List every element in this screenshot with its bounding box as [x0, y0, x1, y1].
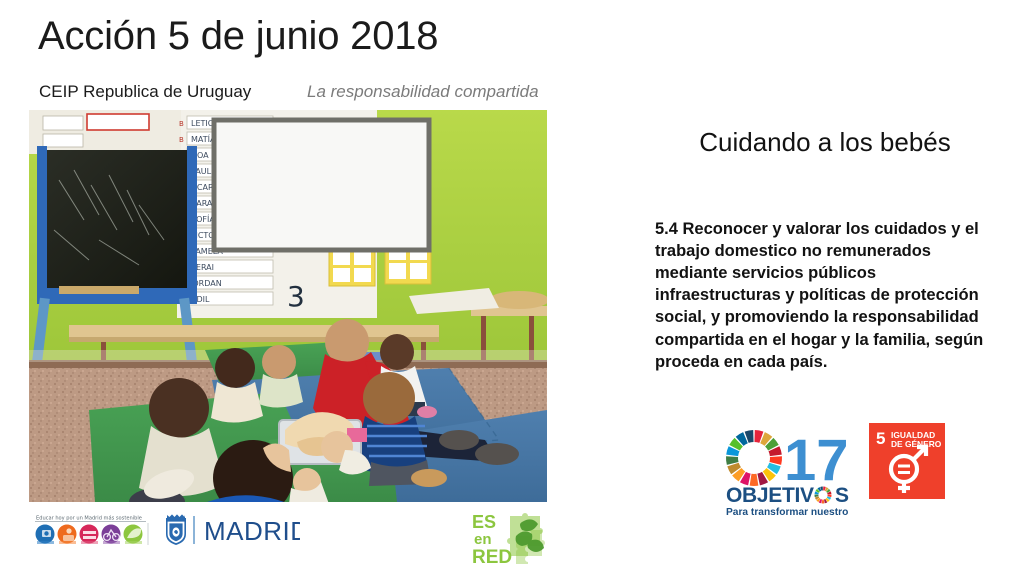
- sdg-17-tagline: Para transformar nuestro mundo: [726, 507, 850, 518]
- esenred-logo: ES en RED: [470, 506, 556, 568]
- theme-subtitle-label: La responsabilidad compartida: [307, 82, 539, 102]
- right-panel-body-text: 5.4 Reconocer y valorar los cuidados y e…: [655, 218, 995, 373]
- classroom-photo: LETICIAMATÍAS NOAPAULA RICARDOSARA SOFÍA…: [29, 110, 547, 502]
- svg-text:B: B: [179, 120, 184, 128]
- esenred-line1: ES: [472, 512, 496, 532]
- svg-text:B: B: [179, 136, 184, 144]
- esenred-logo-graphic: ES en RED: [470, 506, 556, 568]
- school-name-label: CEIP Republica de Uruguay: [39, 82, 251, 102]
- svg-text:3: 3: [287, 280, 305, 313]
- madrid-city-council-logo: MADRID: [160, 512, 300, 548]
- svg-text:Educar hoy por un Madrid más s: Educar hoy por un Madrid más sostenible: [36, 515, 142, 522]
- sdg-17-wordmark-tail: S: [835, 484, 849, 507]
- page-title: Acción 5 de junio 2018: [38, 14, 438, 59]
- educar-hoy-madrid-sostenible-logo: Educar hoy por un Madrid más sostenible: [30, 511, 154, 549]
- sdg-17-logo-graphic: 17 OBJETIV S Para transformar nuestro mu…: [722, 424, 850, 520]
- madrid-logo-graphic: MADRID: [160, 512, 300, 548]
- sdg-color-wheel-icon: [726, 430, 782, 486]
- esenred-line3: RED: [472, 547, 512, 568]
- sdg-5-line2: DE GÉNERO: [891, 438, 942, 449]
- sdg-5-gender-equality-logo: 5 IGUALDAD DE GÉNERO: [869, 423, 945, 499]
- madrid-coat-of-arms-icon: [166, 514, 186, 545]
- sdg-5-logo-graphic: 5 IGUALDAD DE GÉNERO: [869, 423, 945, 499]
- classroom-photo-illustration: LETICIAMATÍAS NOAPAULA RICARDOSARA SOFÍA…: [29, 110, 547, 502]
- esenred-line2: en: [474, 531, 492, 548]
- educar-hoy-logo-graphic: Educar hoy por un Madrid más sostenible: [30, 511, 154, 549]
- sdg-17-wordmark: OBJETIV: [726, 484, 814, 507]
- sdg-5-number: 5: [876, 429, 885, 448]
- right-panel-heading: Cuidando a los bebés: [655, 126, 995, 159]
- sdg-17-objetivos-logo: 17 OBJETIV S Para transformar nuestro mu…: [722, 424, 850, 520]
- presentation-slide: Acción 5 de junio 2018 CEIP Republica de…: [0, 0, 1030, 579]
- svg-text:MADRID: MADRID: [204, 516, 300, 546]
